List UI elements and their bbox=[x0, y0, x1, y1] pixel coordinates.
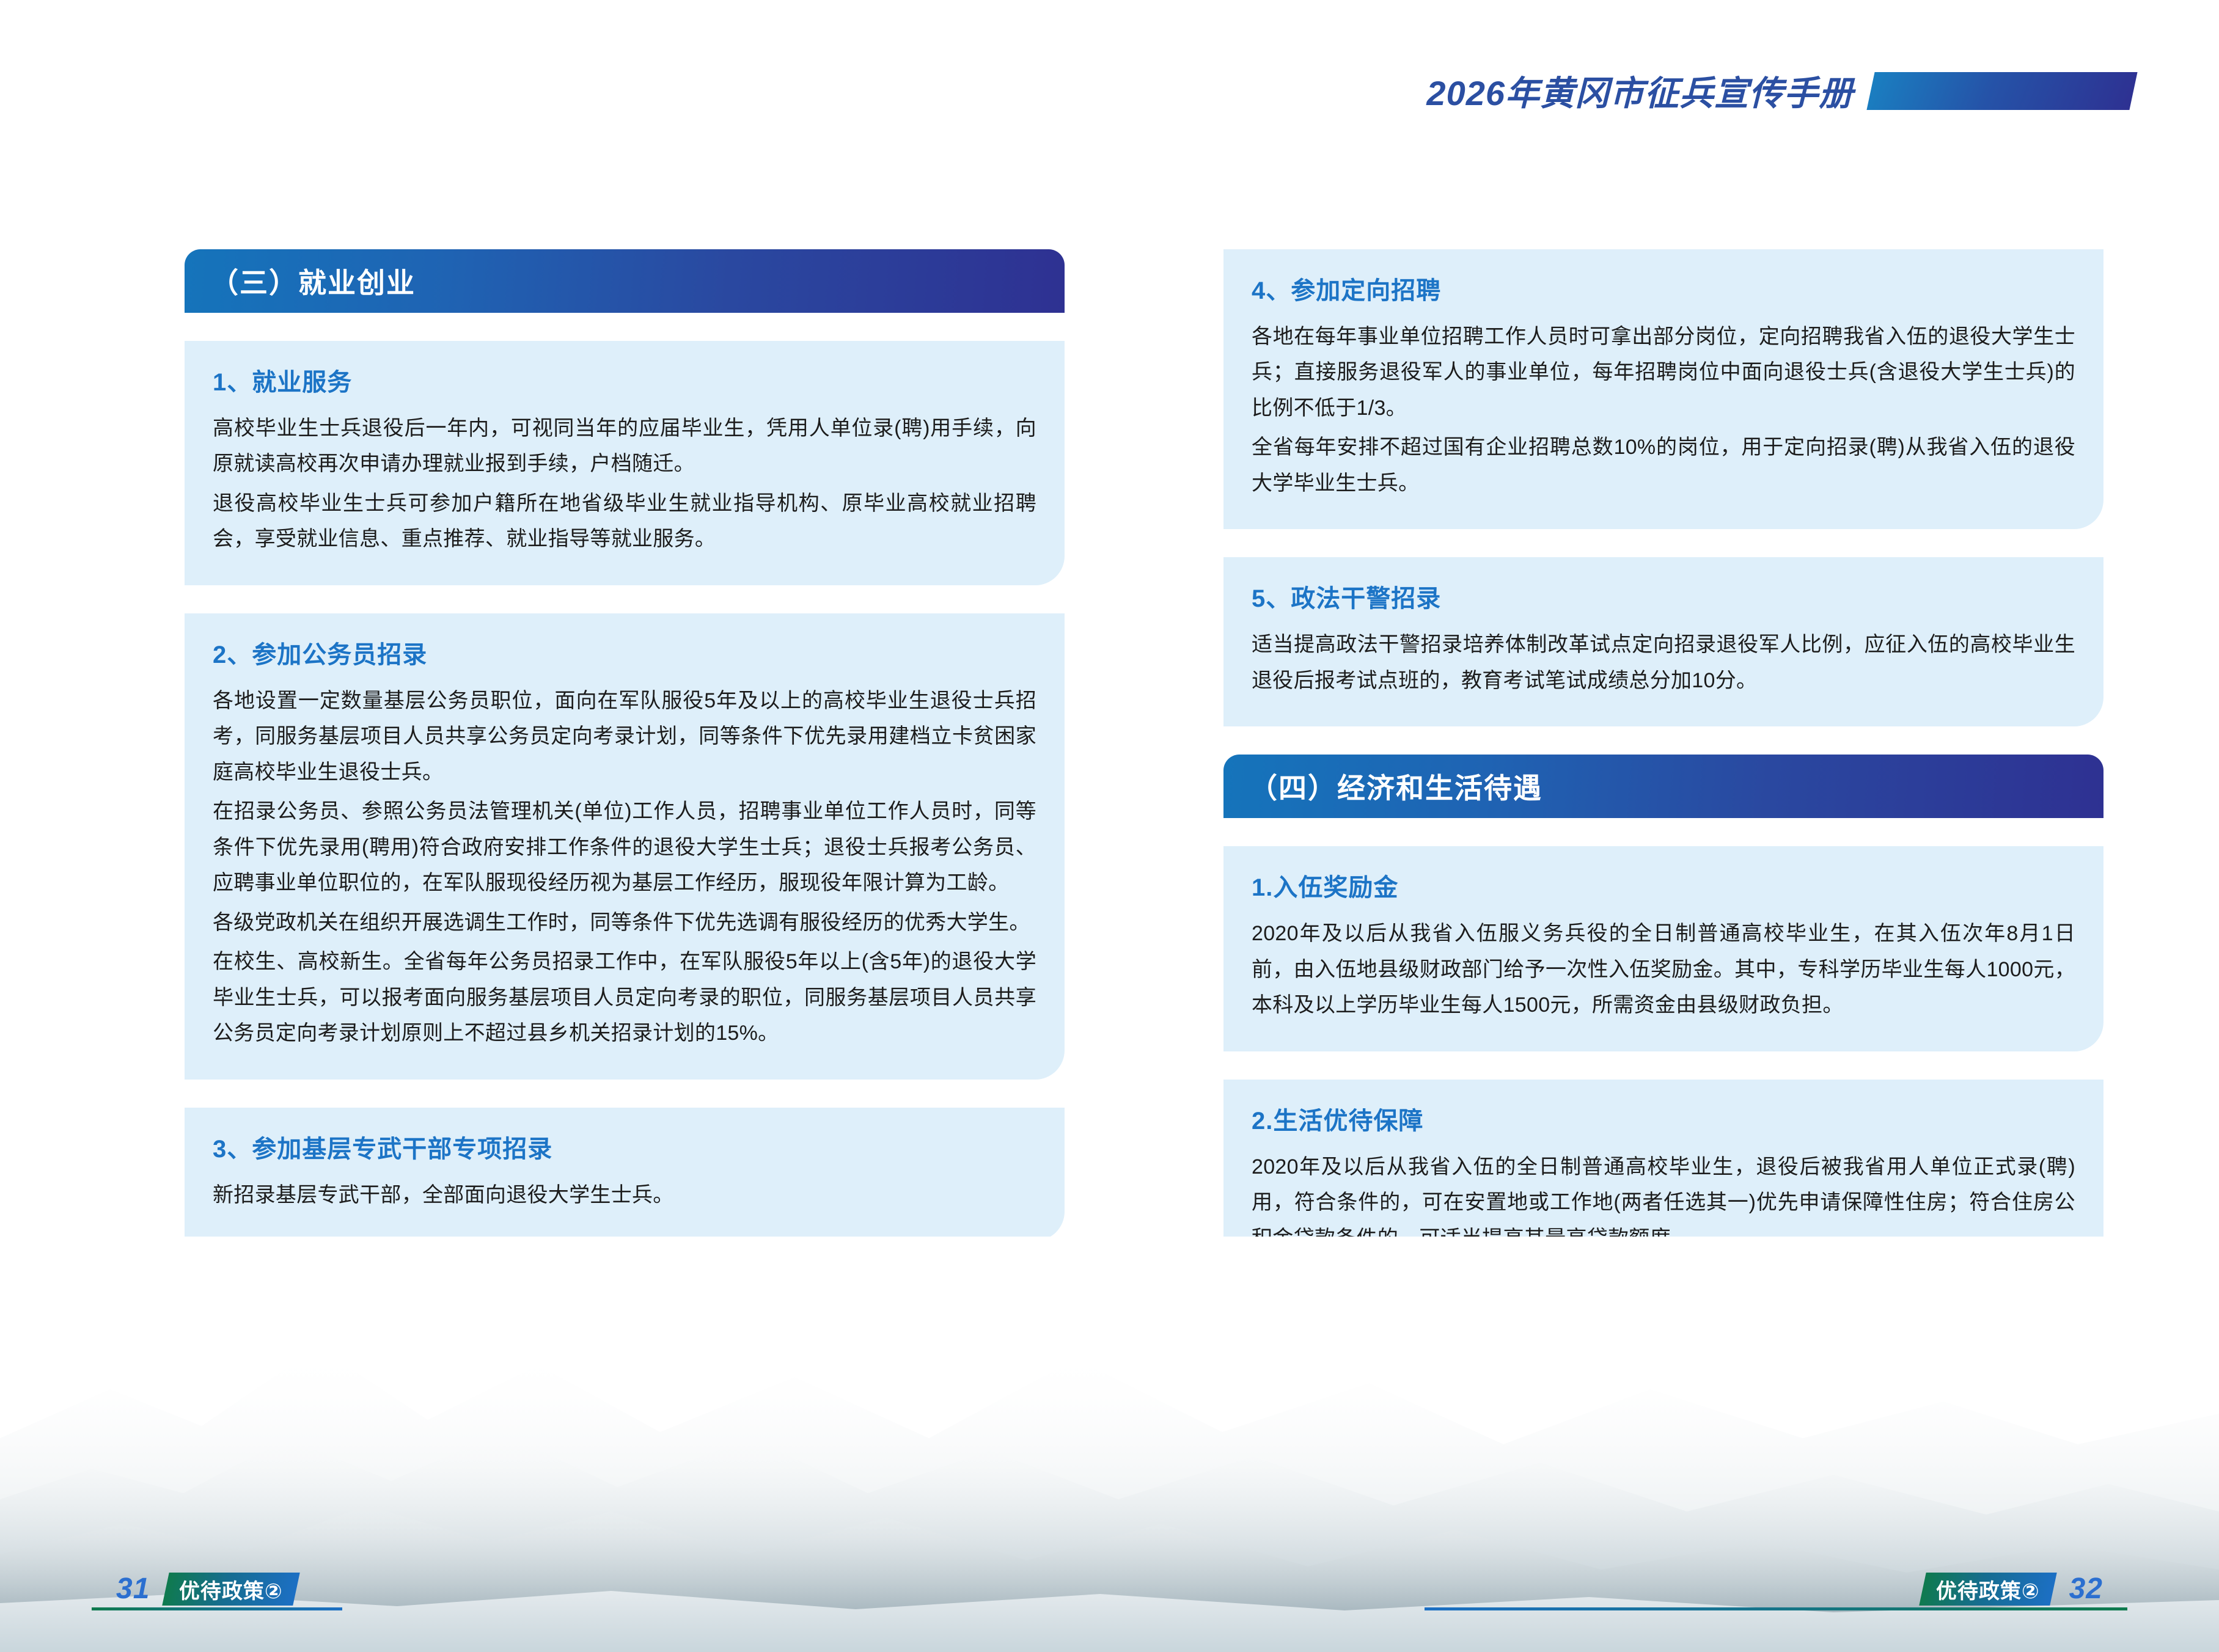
subsection-title: 5、政法干警招录 bbox=[1252, 584, 2075, 613]
subsection-title: 2.生活优待保障 bbox=[1252, 1106, 2075, 1136]
subsection-title: 4、参加定向招聘 bbox=[1252, 276, 2075, 305]
body-paragraph: 新招录基层专武干部，全部面向退役大学生士兵。 bbox=[213, 1177, 1036, 1213]
mountain-illustration bbox=[0, 1237, 2219, 1652]
body-paragraph: 全省每年安排不超过国有企业招聘总数10%的岗位，用于定向招录(聘)从我省入伍的退… bbox=[1252, 429, 2075, 501]
subsection-title: 2、参加公务员招录 bbox=[213, 640, 1036, 670]
body-paragraph: 各地在每年事业单位招聘工作人员时可拿出部分岗位，定向招聘我省入伍的退役大学生士兵… bbox=[1252, 319, 2075, 426]
content-card: 2.生活优待保障 2020年及以后从我省入伍的全日制普通高校毕业生，退役后被我省… bbox=[1223, 1080, 2103, 1284]
footer-left: 31 优待政策② bbox=[116, 1572, 296, 1606]
footer-badge-label: 优待政策② bbox=[1936, 1574, 2040, 1604]
content-card: 3、参加基层专武干部专项招录 新招录基层专武干部，全部面向退役大学生士兵。 bbox=[185, 1108, 1065, 1241]
left-column: （三）就业创业 1、就业服务 高校毕业生士兵退役后一年内，可视同当年的应届毕业生… bbox=[185, 249, 1065, 1284]
body-paragraph: 在校生、高校新生。全省每年公务员招录工作中，在军队服役5年以上(含5年)的退役大… bbox=[213, 944, 1036, 1051]
page-number: 32 bbox=[2069, 1572, 2103, 1606]
content-columns: （三）就业创业 1、就业服务 高校毕业生士兵退役后一年内，可视同当年的应届毕业生… bbox=[0, 249, 2219, 1284]
section-header-employment: （三）就业创业 bbox=[185, 249, 1065, 313]
content-card: 2、参加公务员招录 各地设置一定数量基层公务员职位，面向在军队服役5年及以上的高… bbox=[185, 613, 1065, 1080]
section-title: （三）就业创业 bbox=[210, 261, 416, 301]
body-paragraph: 各级党政机关在组织开展选调生工作时，同等条件下优先选调有服役经历的优秀大学生。 bbox=[213, 905, 1036, 940]
section-title: （四）经济和生活待遇 bbox=[1249, 766, 1542, 806]
subsection-title: 1、就业服务 bbox=[213, 368, 1036, 397]
footer-badge: 优待政策② bbox=[163, 1573, 300, 1606]
section-header-economic-benefits: （四）经济和生活待遇 bbox=[1223, 755, 2103, 818]
body-paragraph: 2020年及以后从我省入伍的全日制普通高校毕业生，退役后被我省用人单位正式录(聘… bbox=[1252, 1149, 2075, 1256]
right-column: 4、参加定向招聘 各地在每年事业单位招聘工作人员时可拿出部分岗位，定向招聘我省入… bbox=[1223, 249, 2103, 1284]
content-card: 4、参加定向招聘 各地在每年事业单位招聘工作人员时可拿出部分岗位，定向招聘我省入… bbox=[1223, 249, 2103, 529]
page-number: 31 bbox=[116, 1572, 150, 1606]
page-title: 2026年黄冈市征兵宣传手册 bbox=[1426, 66, 1854, 115]
footer-badge-label: 优待政策② bbox=[179, 1574, 283, 1604]
subsection-title: 1.入伍奖励金 bbox=[1252, 873, 2075, 902]
body-paragraph: 各地设置一定数量基层公务员职位，面向在军队服役5年及以上的高校毕业生退役士兵招考… bbox=[213, 683, 1036, 790]
footer-right: 优待政策② 32 bbox=[1923, 1572, 2103, 1606]
header-inner: 2026年黄冈市征兵宣传手册 bbox=[1426, 66, 2133, 115]
header-accent-bar bbox=[1866, 72, 2137, 110]
content-card: 1.入伍奖励金 2020年及以后从我省入伍服义务兵役的全日制普通高校毕业生，在其… bbox=[1223, 846, 2103, 1051]
footer-rule-right bbox=[1425, 1607, 2127, 1610]
footer-badge: 优待政策② bbox=[1919, 1573, 2056, 1606]
content-card: 5、政法干警招录 适当提高政法干警招录培养体制改革试点定向招录退役军人比例，应征… bbox=[1223, 557, 2103, 726]
body-paragraph: 在招录公务员、参照公务员法管理机关(单位)工作人员，招聘事业单位工作人员时，同等… bbox=[213, 794, 1036, 901]
body-paragraph: 2020年及以后从我省入伍服义务兵役的全日制普通高校毕业生，在其入伍次年8月1日… bbox=[1252, 916, 2075, 1023]
body-paragraph: 高校毕业生士兵退役后一年内，可视同当年的应届毕业生，凭用人单位录(聘)用手续，向… bbox=[213, 411, 1036, 482]
body-paragraph: 退役高校毕业生士兵可参加户籍所在地省级毕业生就业指导机构、原毕业高校就业招聘会，… bbox=[213, 486, 1036, 557]
subsection-title: 3、参加基层专武干部专项招录 bbox=[213, 1135, 1036, 1164]
footer-rule-left bbox=[92, 1607, 342, 1610]
body-paragraph: 适当提高政法干警招录培养体制改革试点定向招录退役军人比例，应征入伍的高校毕业生退… bbox=[1252, 627, 2075, 698]
page-header: 2026年黄冈市征兵宣传手册 bbox=[0, 0, 2219, 141]
content-card: 1、就业服务 高校毕业生士兵退役后一年内，可视同当年的应届毕业生，凭用人单位录(… bbox=[185, 341, 1065, 585]
